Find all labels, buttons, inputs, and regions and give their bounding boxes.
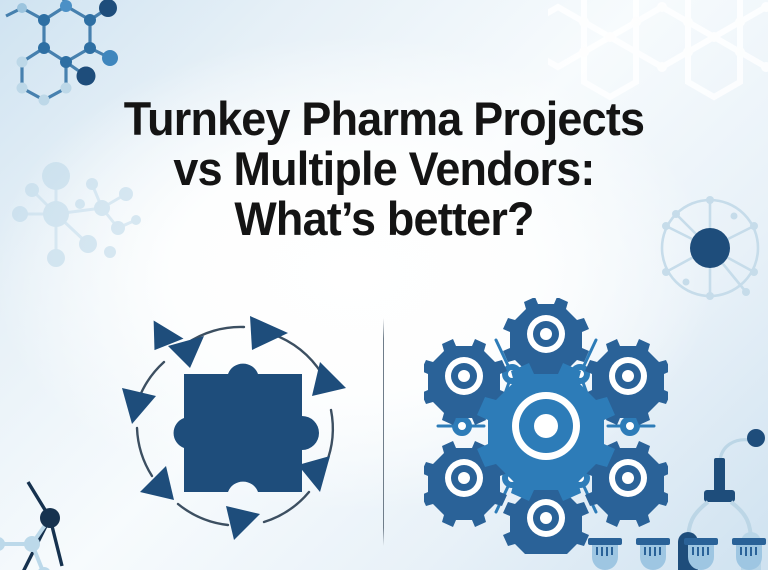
gear-network-icon (424, 298, 668, 559)
graphics-row (0, 296, 768, 558)
hexagon-pattern-top-right-icon (548, 0, 768, 104)
molecule-top-left-icon (4, 0, 154, 106)
title-line-3: What’s better? (17, 194, 750, 244)
title-line-1: Turnkey Pharma Projects (17, 94, 750, 144)
title-line-2: vs Multiple Vendors: (17, 144, 750, 194)
puzzle-piece-cycle-icon (112, 306, 352, 551)
poster-canvas: Turnkey Pharma Projects vs Multiple Vend… (0, 0, 768, 570)
poster-title: Turnkey Pharma Projects vs Multiple Vend… (0, 94, 768, 244)
vertical-divider (383, 318, 384, 546)
